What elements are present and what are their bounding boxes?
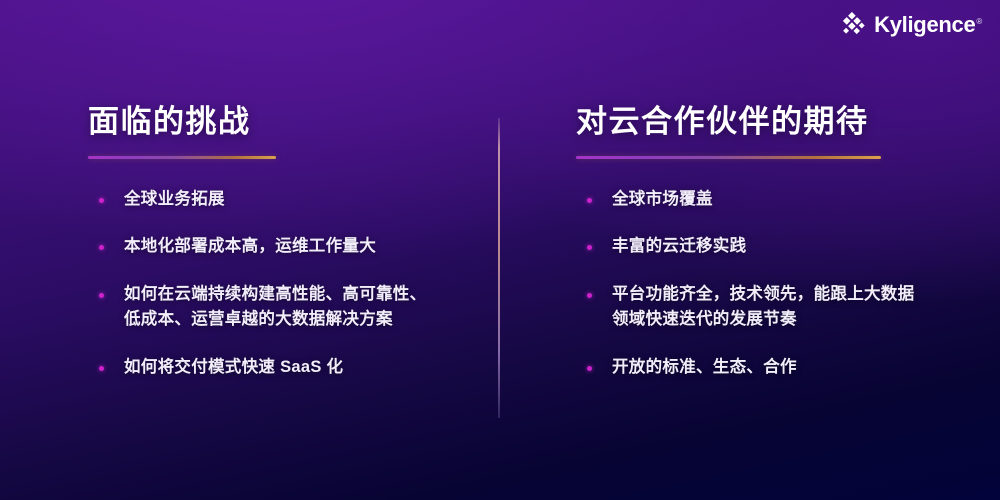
column-challenges-title: 面临的挑战 xyxy=(88,104,472,140)
list-item: 全球业务拓展 xyxy=(88,187,472,213)
column-challenges-bullets: 全球业务拓展 本地化部署成本高，运维工作量大 如何在云端持续构建高性能、高可靠性… xyxy=(88,187,472,381)
content-columns: 面临的挑战 全球业务拓展 本地化部署成本高，运维工作量大 如何在云端持续构建高性… xyxy=(0,104,1000,380)
title-underline-right xyxy=(576,156,881,159)
kyligence-diamond-mark-icon xyxy=(841,12,867,38)
list-item: 全球市场覆盖 xyxy=(576,187,976,213)
list-item: 开放的标准、生态、合作 xyxy=(576,355,976,381)
list-item: 平台功能齐全，技术领先，能跟上大数据 领域快速迭代的发展节奏 xyxy=(576,282,976,333)
registered-trademark-symbol: ® xyxy=(976,17,982,26)
brand-name: Kyligence® xyxy=(874,14,982,36)
brand-name-text: Kyligence xyxy=(874,12,975,37)
column-expectations: 对云合作伙伴的期待 全球市场覆盖 丰富的云迁移实践 平台功能齐全，技术领先，能跟… xyxy=(498,104,1000,380)
presentation-slide: Kyligence® 面临的挑战 全球业务拓展 本地化部署成本高，运维工作量大 … xyxy=(0,0,1000,500)
column-expectations-bullets: 全球市场覆盖 丰富的云迁移实践 平台功能齐全，技术领先，能跟上大数据 领域快速迭… xyxy=(576,187,976,381)
list-item: 如何在云端持续构建高性能、高可靠性、 低成本、运营卓越的大数据解决方案 xyxy=(88,282,472,333)
column-challenges: 面临的挑战 全球业务拓展 本地化部署成本高，运维工作量大 如何在云端持续构建高性… xyxy=(0,104,498,380)
list-item: 本地化部署成本高，运维工作量大 xyxy=(88,234,472,260)
list-item: 如何将交付模式快速 SaaS 化 xyxy=(88,355,472,381)
list-item: 丰富的云迁移实践 xyxy=(576,234,976,260)
title-underline-left xyxy=(88,156,276,159)
column-expectations-title: 对云合作伙伴的期待 xyxy=(576,104,976,140)
kyligence-logo: Kyligence® xyxy=(841,12,982,38)
